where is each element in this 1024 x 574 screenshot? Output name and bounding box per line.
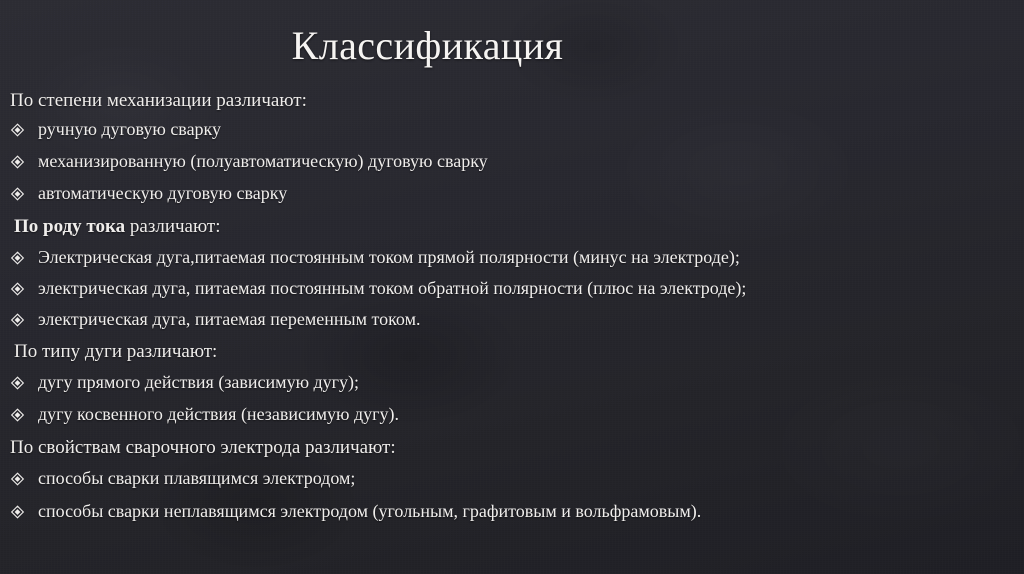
list-item-label: дугу косвенного действия (независимую ду… — [38, 404, 399, 424]
section-lead: По свойствам сварочного электрода различ… — [0, 435, 1024, 460]
list-item: электрическая дуга, питаемая постоянным … — [0, 277, 1024, 300]
list-item-label: ручную дуговую сварку — [38, 119, 221, 139]
page-title: Классификация — [0, 22, 855, 70]
section-mechanization: По степени механизации различают: ручную… — [0, 88, 1024, 205]
diamond-bullet-icon — [11, 472, 24, 485]
bullet-list: способы сварки плавящимся электродом; сп… — [0, 467, 1024, 523]
list-item: механизированную (полуавтоматическую) ду… — [0, 150, 1024, 173]
diamond-bullet-icon — [11, 187, 24, 200]
slide-body: По степени механизации различают: ручную… — [0, 88, 1024, 533]
diamond-bullet-icon — [11, 251, 24, 264]
list-item: Электрическая дуга,питаемая постоянным т… — [0, 246, 1024, 269]
section-electrode-properties: По свойствам сварочного электрода различ… — [0, 435, 1024, 523]
list-item: электрическая дуга, питаемая переменным … — [0, 308, 1024, 331]
section-lead: По степени механизации различают: — [0, 88, 1024, 113]
list-item-label: механизированную (полуавтоматическую) ду… — [38, 151, 488, 171]
section-lead: По типу дуги различают: — [0, 339, 1024, 364]
section-lead-strong: По роду тока — [14, 216, 125, 237]
bullet-list: Электрическая дуга,питаемая постоянным т… — [0, 246, 1024, 331]
section-lead-text: По степени механизации различают: — [10, 90, 307, 111]
list-item: способы сварки плавящимся электродом; — [0, 467, 1024, 490]
list-item-label: автоматическую дуговую сварку — [38, 183, 287, 203]
slide: Классификация По степени механизации раз… — [0, 0, 1024, 574]
diamond-bullet-icon — [11, 282, 24, 295]
section-current-type: По роду тока различают: Электрическая ду… — [0, 214, 1024, 331]
list-item-label: электрическая дуга, питаемая переменным … — [38, 309, 420, 329]
diamond-bullet-icon — [11, 408, 24, 421]
section-arc-type: По типу дуги различают: дугу прямого дей… — [0, 339, 1024, 426]
list-item-label: дугу прямого действия (зависимую дугу); — [38, 372, 359, 392]
diamond-bullet-icon — [11, 376, 24, 389]
section-lead: По роду тока различают: — [0, 214, 1024, 239]
bullet-list: ручную дуговую сварку механизированную (… — [0, 118, 1024, 205]
list-item: автоматическую дуговую сварку — [0, 182, 1024, 205]
bullet-list: дугу прямого действия (зависимую дугу); … — [0, 371, 1024, 426]
diamond-bullet-icon — [11, 155, 24, 168]
list-item: дугу косвенного действия (независимую ду… — [0, 403, 1024, 426]
list-item-label: электрическая дуга, питаемая постоянным … — [38, 278, 746, 298]
list-item: дугу прямого действия (зависимую дугу); — [0, 371, 1024, 394]
list-item: способы сварки неплавящимся электродом (… — [0, 500, 1024, 523]
section-lead-text: По свойствам сварочного электрода различ… — [10, 437, 396, 458]
section-lead-text: По типу дуги различают: — [14, 341, 217, 362]
diamond-bullet-icon — [11, 313, 24, 326]
diamond-bullet-icon — [11, 505, 24, 518]
section-lead-text: различают: — [125, 216, 220, 237]
list-item-label: Электрическая дуга,питаемая постоянным т… — [38, 247, 740, 267]
list-item-label: способы сварки неплавящимся электродом (… — [38, 501, 701, 521]
list-item: ручную дуговую сварку — [0, 118, 1024, 141]
list-item-label: способы сварки плавящимся электродом; — [38, 468, 355, 488]
diamond-bullet-icon — [11, 123, 24, 136]
